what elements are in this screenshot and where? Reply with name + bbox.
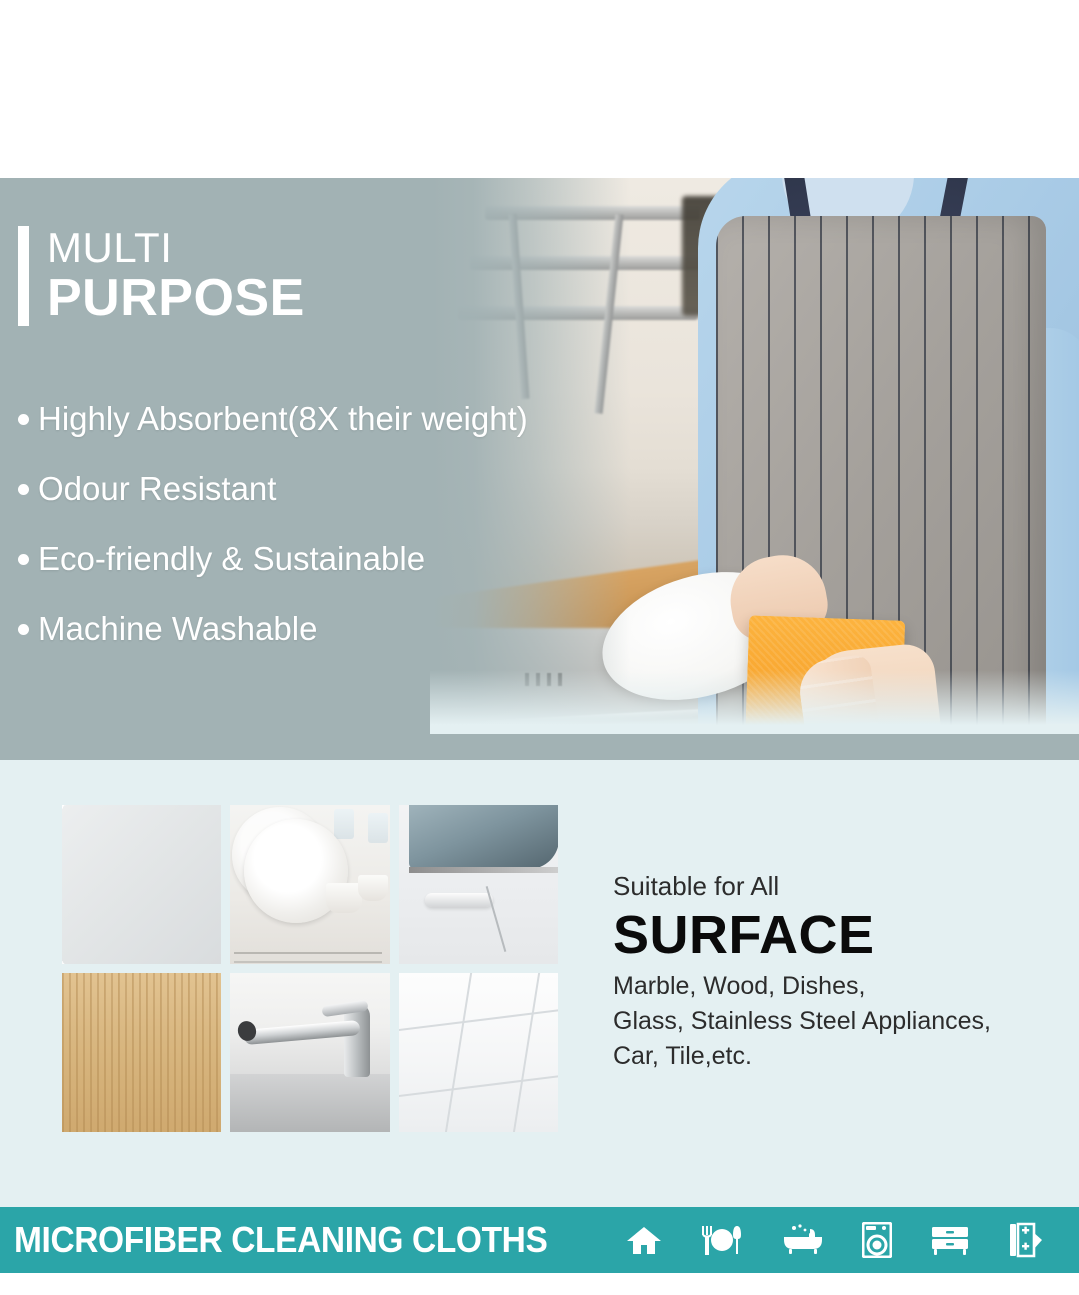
- surface-photo-grid: [62, 805, 558, 1132]
- surface-copy-block: Suitable for All SURFACE Marble, Wood, D…: [613, 870, 1053, 1074]
- bullet-dot-icon: [18, 414, 29, 425]
- tile-grout-line: [399, 1073, 558, 1098]
- surface-list: Marble, Wood, Dishes, Glass, Stainless S…: [613, 969, 1053, 1074]
- benefit-label: Machine Washable: [38, 610, 317, 648]
- bullet-dot-icon: [18, 554, 29, 565]
- benefits-list: Highly Absorbent(8X their weight) Odour …: [18, 400, 528, 680]
- dishes-photo: [230, 805, 389, 964]
- car-window-trim: [409, 867, 558, 873]
- dish-rack-wire: [234, 952, 382, 954]
- tile-grout-line: [442, 973, 474, 1132]
- car-door-handle: [425, 893, 493, 907]
- window-cleaning-icon: [1008, 1222, 1044, 1258]
- stainless-faucet-photo: [230, 973, 389, 1132]
- car-window: [409, 805, 558, 869]
- marble-surface-photo: [62, 805, 221, 964]
- surface-list-line: Marble, Wood, Dishes,: [613, 969, 1053, 1004]
- footer-title: MICROFIBER CLEANING CLOTHS: [14, 1219, 547, 1261]
- benefit-item: Machine Washable: [18, 610, 528, 648]
- tile-grout-line: [510, 973, 542, 1132]
- car-window-photo: [399, 805, 558, 964]
- footer-icon-row: [626, 1222, 1044, 1258]
- benefit-item: Odour Resistant: [18, 470, 528, 508]
- benefit-item: Highly Absorbent(8X their weight): [18, 400, 528, 438]
- wood-surface-photo: [62, 973, 221, 1132]
- sink-counter: [230, 1074, 389, 1132]
- surface-list-line: Car, Tile,etc.: [613, 1039, 1053, 1074]
- product-infographic: MULTI PURPOSE Highly Absorbent(8X their …: [0, 0, 1079, 1295]
- benefit-item: Eco-friendly & Sustainable: [18, 540, 528, 578]
- faucet-spout: [244, 1020, 361, 1045]
- surface-title: SURFACE: [613, 905, 1053, 965]
- benefit-label: Odour Resistant: [38, 470, 276, 508]
- surface-kicker: Suitable for All: [613, 870, 1053, 903]
- bathtub-icon: [782, 1224, 824, 1256]
- benefit-label: Highly Absorbent(8X their weight): [38, 400, 528, 438]
- cup: [358, 875, 388, 901]
- glass: [334, 809, 354, 839]
- bottom-white-margin: [0, 1273, 1079, 1295]
- heading-line-multi: MULTI: [47, 226, 305, 270]
- surface-list-line: Glass, Stainless Steel Appliances,: [613, 1004, 1053, 1039]
- hero-heading: MULTI PURPOSE: [18, 226, 305, 326]
- multi-purpose-hero-panel: MULTI PURPOSE Highly Absorbent(8X their …: [0, 178, 1079, 760]
- faucet-body: [344, 1003, 370, 1077]
- house-icon: [626, 1224, 662, 1256]
- glass: [368, 813, 388, 843]
- dining-utensils-icon: [700, 1224, 744, 1256]
- bullet-dot-icon: [18, 624, 29, 635]
- heading-line-purpose: PURPOSE: [47, 270, 305, 326]
- white-tile-photo: [399, 973, 558, 1132]
- dresser-icon: [930, 1224, 970, 1256]
- bullet-dot-icon: [18, 484, 29, 495]
- suitable-surfaces-section: Suitable for All SURFACE Marble, Wood, D…: [0, 760, 1079, 1207]
- benefit-label: Eco-friendly & Sustainable: [38, 540, 425, 578]
- car-body-seam: [485, 886, 506, 952]
- washing-machine-icon: [862, 1222, 892, 1258]
- cup: [326, 883, 362, 913]
- accent-bar: [18, 226, 29, 326]
- footer-brand-bar: MICROFIBER CLEANING CLOTHS: [0, 1207, 1079, 1273]
- top-white-margin: [0, 0, 1079, 178]
